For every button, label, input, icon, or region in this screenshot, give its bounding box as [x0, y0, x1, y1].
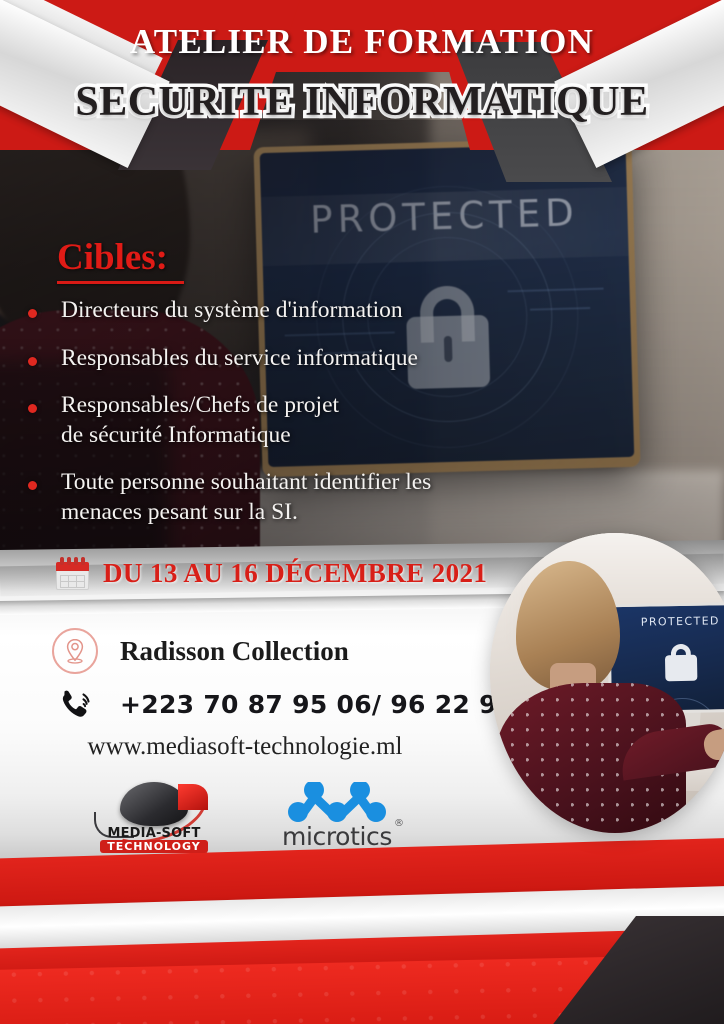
- venue-name: Radisson Collection: [120, 636, 349, 667]
- location-pin-icon: [52, 628, 98, 674]
- microtics-mark-icon: [276, 782, 398, 824]
- list-item-label: Directeurs du système d'information: [61, 296, 403, 326]
- targets-list: Directeurs du système d'information Resp…: [28, 296, 568, 546]
- bullet-dot-icon: [28, 309, 37, 318]
- event-date: DU 13 AU 16 DÉCEMBRE 2021: [103, 558, 487, 589]
- calendar-ring: [60, 557, 64, 565]
- calendar-icon: [56, 556, 89, 590]
- list-item: Toute personne souhaitant identifier les…: [28, 468, 568, 527]
- poster-title-primary: ATELIER DE FORMATION: [0, 22, 724, 62]
- calendar-ring: [74, 557, 78, 565]
- bullet-dot-icon: [28, 404, 37, 413]
- microtics-logo: microtics ®: [276, 782, 398, 854]
- date-row: DU 13 AU 16 DÉCEMBRE 2021: [56, 556, 487, 590]
- list-item-label: Toute personne souhaitant identifier les…: [61, 468, 431, 527]
- list-item-label: Responsables du service informatique: [61, 344, 418, 374]
- logo-row: MEDIA-SOFT TECHNOLOGY microtics ®: [0, 778, 490, 858]
- poster-title-secondary: SECURITE INFORMATIQUE: [0, 78, 724, 126]
- targets-heading: Cibles:: [57, 236, 168, 279]
- calendar-ring: [81, 557, 85, 565]
- photo-padlock-icon: [665, 644, 698, 682]
- calendar-ring: [67, 557, 71, 565]
- phone-icon: [52, 682, 98, 726]
- poster-root: PROTECTED: [0, 0, 724, 1024]
- mediasoft-logo-tagline: TECHNOLOGY: [100, 840, 208, 853]
- photo-padlock-shackle: [671, 644, 691, 664]
- phone-row: +223 70 87 95 06/ 96 22 94 41: [52, 682, 559, 726]
- mediasoft-logo: MEDIA-SOFT TECHNOLOGY: [92, 782, 216, 854]
- list-item: Directeurs du système d'information: [28, 296, 568, 326]
- website-url[interactable]: www.mediasoft-technologie.ml: [0, 733, 490, 761]
- photo-protected-label: PROTECTED: [610, 614, 724, 629]
- mouse-red-accent: [178, 784, 208, 810]
- bullet-dot-icon: [28, 481, 37, 490]
- computer-mouse-icon: [120, 782, 188, 826]
- microtics-registered-mark: ®: [394, 818, 404, 829]
- targets-heading-underline: [57, 281, 184, 284]
- circular-photo: PROTECTED: [490, 533, 724, 833]
- list-item: Responsables/Chefs de projet de sécurité…: [28, 391, 568, 450]
- microtics-logo-name: microtics: [276, 822, 398, 851]
- bullet-dot-icon: [28, 357, 37, 366]
- list-item-label: Responsables/Chefs de projet de sécurité…: [61, 391, 339, 450]
- venue-row: Radisson Collection: [52, 628, 349, 674]
- mediasoft-logo-name: MEDIA-SOFT: [92, 826, 216, 841]
- list-item: Responsables du service informatique: [28, 344, 568, 374]
- calendar-grid: [60, 575, 85, 588]
